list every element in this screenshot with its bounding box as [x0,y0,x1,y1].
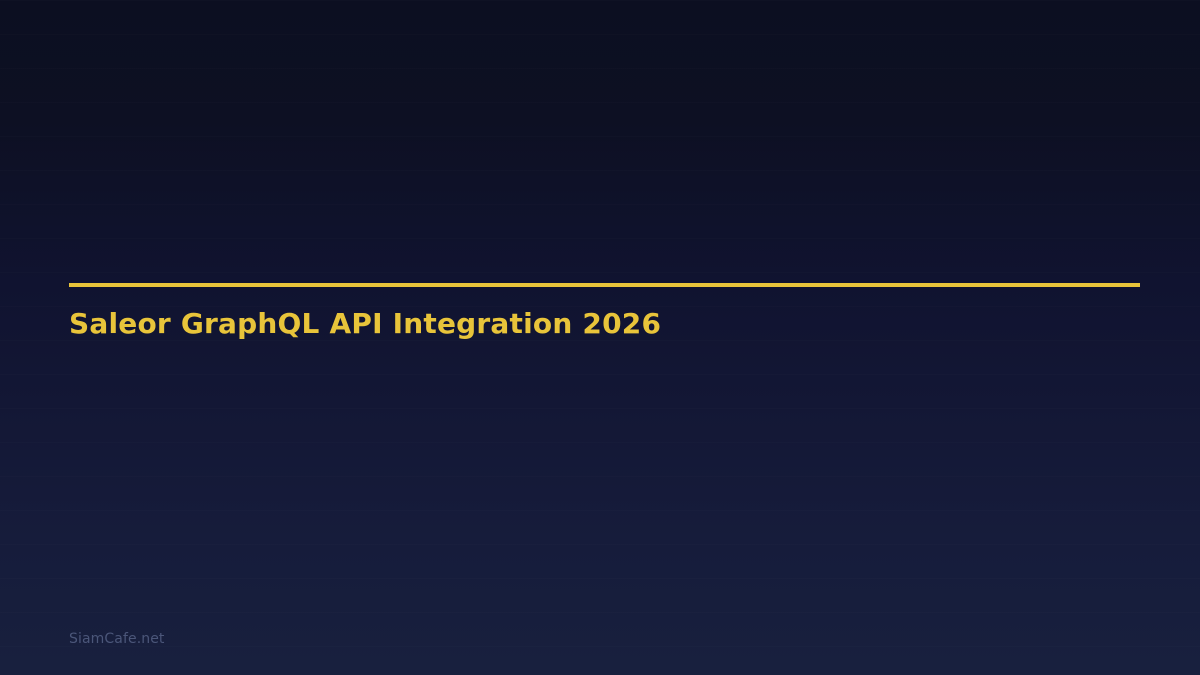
presentation-slide: Saleor GraphQL API Integration 2026 Siam… [0,0,1200,675]
footer-brand-label: SiamCafe.net [69,630,165,650]
page-title: Saleor GraphQL API Integration 2026 [69,308,1140,340]
title-block: Saleor GraphQL API Integration 2026 [69,283,1140,340]
accent-rule-divider [69,283,1140,287]
